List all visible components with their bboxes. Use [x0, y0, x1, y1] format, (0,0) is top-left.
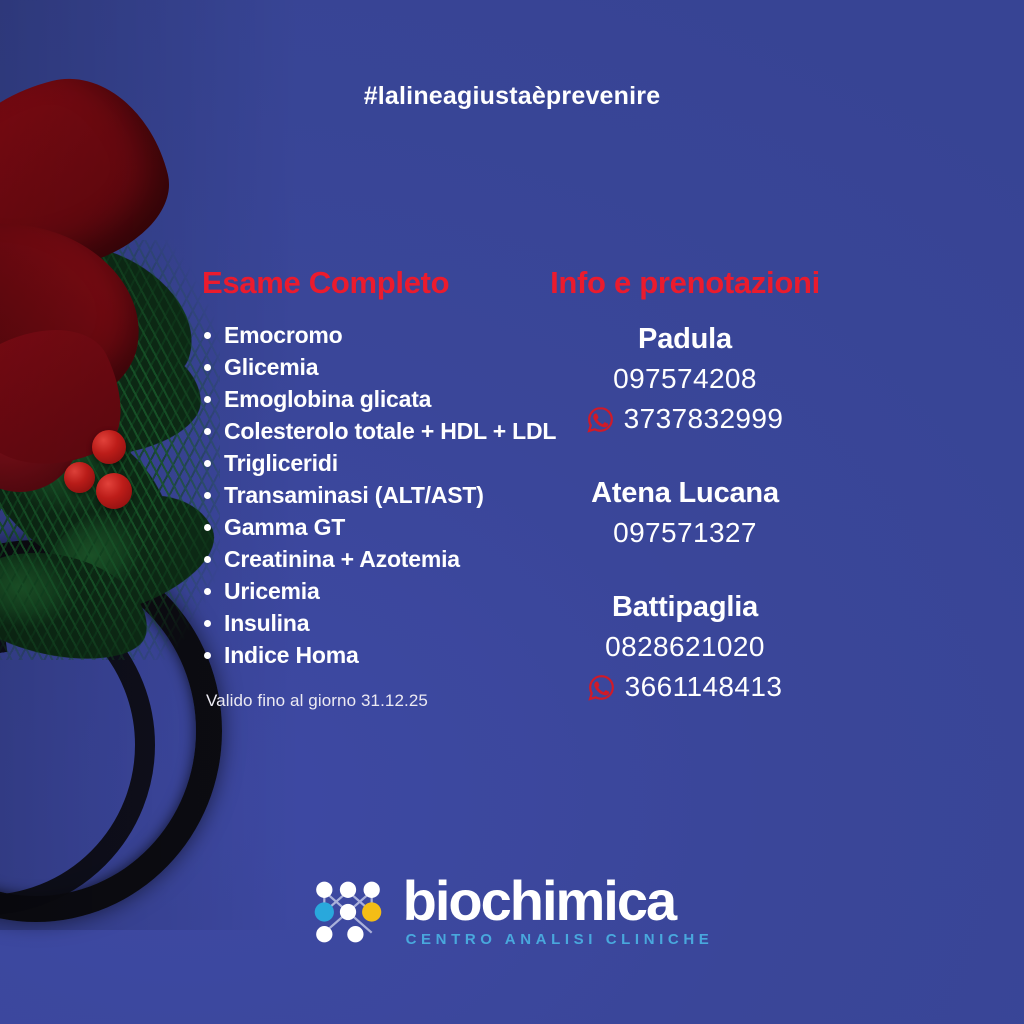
- branch-whatsapp-row[interactable]: 3737832999: [520, 399, 850, 439]
- branch-whatsapp-row[interactable]: 3661148413: [520, 667, 850, 707]
- pine-branch-icon: [0, 215, 215, 405]
- logo-wordmark: biochimica CENTRO ANALISI CLINICHE: [403, 874, 714, 950]
- whatsapp-icon[interactable]: [588, 674, 615, 701]
- campaign-hashtag: #lalineagiustaèprevenire: [0, 82, 1024, 111]
- stethoscope-loop-secondary-icon: [0, 575, 155, 915]
- branch-phone[interactable]: 097574208: [520, 359, 850, 399]
- stethoscope-tube-icon: [0, 277, 195, 655]
- branch-padula: Padula 097574208 3737832999: [520, 319, 850, 439]
- red-berry-icon: [92, 430, 126, 464]
- red-ribbon-tail-icon: [0, 304, 143, 496]
- branch-battipaglia: Battipaglia 0828621020 3661148413: [520, 587, 850, 707]
- branch-whatsapp-number[interactable]: 3661148413: [625, 667, 783, 707]
- whatsapp-icon[interactable]: [587, 406, 614, 433]
- branch-name: Padula: [520, 319, 850, 359]
- molecule-icon: [311, 875, 385, 949]
- promo-poster: #lalineagiustaèprevenire Esame Completo …: [0, 0, 1024, 1024]
- branch-whatsapp-number[interactable]: 3737832999: [624, 399, 784, 439]
- branch-atena-lucana: Atena Lucana 097571327: [520, 473, 850, 553]
- logo-tagline: CENTRO ANALISI CLINICHE: [406, 930, 714, 950]
- pine-branch-icon: [0, 536, 158, 673]
- company-logo: biochimica CENTRO ANALISI CLINICHE: [0, 874, 1024, 950]
- red-berry-icon: [64, 462, 95, 493]
- branch-phone[interactable]: 0828621020: [520, 627, 850, 667]
- pine-branch-icon: [0, 376, 207, 614]
- contacts-heading: Info e prenotazioni: [520, 265, 850, 301]
- stethoscope-loop-icon: [0, 540, 222, 922]
- branch-name: Battipaglia: [520, 587, 850, 627]
- branch-name: Atena Lucana: [520, 473, 850, 513]
- red-ribbon-bow-lower-icon: [0, 205, 155, 436]
- pine-branch-icon: [5, 330, 206, 464]
- red-berry-icon: [96, 473, 132, 509]
- red-ornament-icon: [0, 372, 80, 492]
- branch-phone[interactable]: 097571327: [520, 513, 850, 553]
- logo-brand-name: biochimica: [403, 874, 676, 928]
- contacts-section: Info e prenotazioni Padula 097574208 373…: [520, 265, 850, 733]
- pine-needles-texture: [0, 240, 220, 660]
